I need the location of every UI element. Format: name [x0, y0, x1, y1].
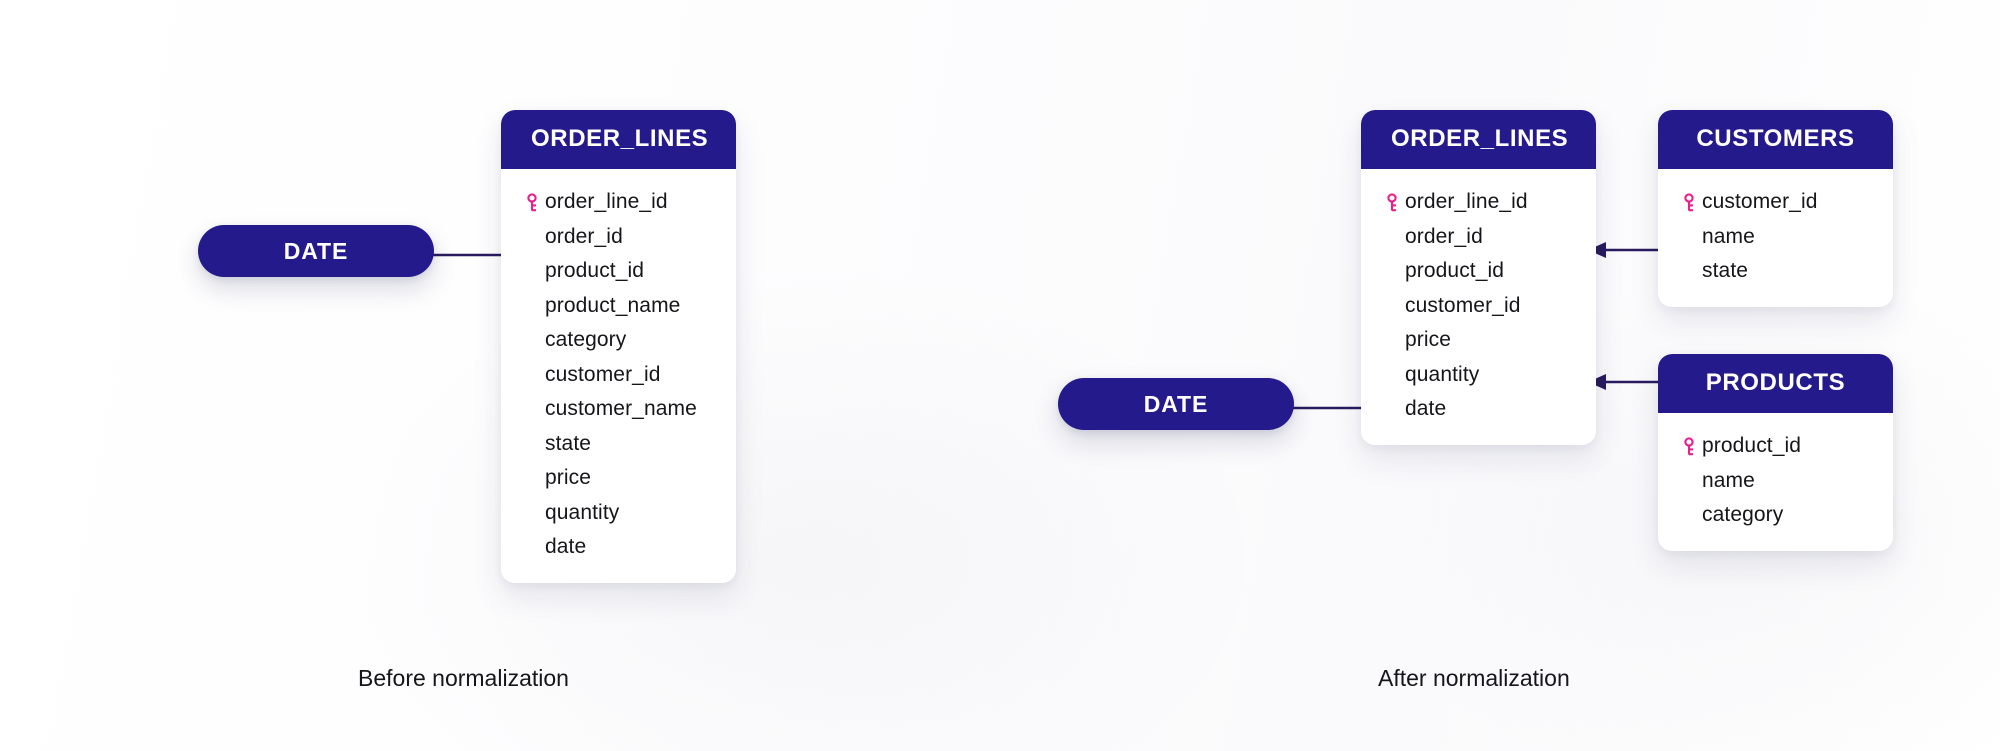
date-pill-after-label: DATE: [1144, 391, 1209, 418]
field-label: date: [1405, 397, 1446, 421]
table-row[interactable]: product_id: [1658, 429, 1893, 464]
date-pill-before[interactable]: DATE: [198, 225, 434, 277]
field-label: state: [545, 432, 591, 456]
field-label: order_id: [1405, 225, 1483, 249]
field-label: customer_id: [1405, 294, 1520, 318]
table-row[interactable]: order_line_id: [501, 185, 736, 220]
field-label: quantity: [545, 501, 619, 525]
table-row[interactable]: name: [1658, 464, 1893, 499]
entity-order-lines-before-fields: order_line_id order_id product_id produc…: [501, 169, 736, 583]
table-row[interactable]: customer_id: [501, 358, 736, 393]
field-label: product_id: [545, 259, 644, 283]
table-row[interactable]: customer_name: [501, 392, 736, 427]
table-row[interactable]: quantity: [1361, 358, 1596, 393]
table-row[interactable]: date: [501, 530, 736, 565]
key-icon: [1676, 193, 1702, 212]
field-label: order_id: [545, 225, 623, 249]
table-row[interactable]: order_id: [501, 220, 736, 255]
entity-order-lines-after-fields: order_line_id order_id product_id custom…: [1361, 169, 1596, 445]
table-row[interactable]: date: [1361, 392, 1596, 427]
entity-order-lines-before-title: ORDER_LINES: [501, 110, 736, 169]
field-label: product_name: [545, 294, 680, 318]
field-label: date: [545, 535, 586, 559]
entity-products-fields: product_id name category: [1658, 413, 1893, 551]
entity-products-title: PRODUCTS: [1658, 354, 1893, 413]
diagram-canvas: DATE ORDER_LINES order_line_id order_id: [0, 0, 2000, 751]
field-label: product_id: [1405, 259, 1504, 283]
table-row[interactable]: customer_id: [1658, 185, 1893, 220]
table-row[interactable]: state: [501, 427, 736, 462]
date-pill-after[interactable]: DATE: [1058, 378, 1294, 430]
entity-order-lines-after[interactable]: ORDER_LINES order_line_id order_id: [1361, 110, 1596, 445]
field-label: product_id: [1702, 434, 1801, 458]
field-label: customer_id: [1702, 190, 1817, 214]
table-row[interactable]: order_line_id: [1361, 185, 1596, 220]
date-pill-before-label: DATE: [284, 238, 349, 265]
table-row[interactable]: order_id: [1361, 220, 1596, 255]
key-icon: [1379, 193, 1405, 212]
field-label: name: [1702, 469, 1755, 493]
table-row[interactable]: product_name: [501, 289, 736, 324]
entity-customers-fields: customer_id name state: [1658, 169, 1893, 307]
entity-order-lines-before[interactable]: ORDER_LINES order_line_id order_id: [501, 110, 736, 583]
field-label: order_line_id: [1405, 190, 1528, 214]
field-label: price: [545, 466, 591, 490]
field-label: name: [1702, 225, 1755, 249]
caption-before: Before normalization: [358, 665, 569, 692]
field-label: quantity: [1405, 363, 1479, 387]
table-row[interactable]: product_id: [501, 254, 736, 289]
table-row[interactable]: state: [1658, 254, 1893, 289]
entity-products[interactable]: PRODUCTS product_id name: [1658, 354, 1893, 551]
table-row[interactable]: price: [1361, 323, 1596, 358]
entity-customers[interactable]: CUSTOMERS customer_id name: [1658, 110, 1893, 307]
entity-customers-title: CUSTOMERS: [1658, 110, 1893, 169]
field-label: category: [545, 328, 626, 352]
table-row[interactable]: name: [1658, 220, 1893, 255]
field-label: customer_id: [545, 363, 660, 387]
field-label: customer_name: [545, 397, 697, 421]
field-label: order_line_id: [545, 190, 668, 214]
table-row[interactable]: price: [501, 461, 736, 496]
key-icon: [1676, 437, 1702, 456]
table-row[interactable]: customer_id: [1361, 289, 1596, 324]
field-label: price: [1405, 328, 1451, 352]
table-row[interactable]: category: [1658, 498, 1893, 533]
key-icon: [519, 193, 545, 212]
caption-after: After normalization: [1378, 665, 1570, 692]
table-row[interactable]: product_id: [1361, 254, 1596, 289]
table-row[interactable]: category: [501, 323, 736, 358]
field-label: state: [1702, 259, 1748, 283]
field-label: category: [1702, 503, 1783, 527]
table-row[interactable]: quantity: [501, 496, 736, 531]
entity-order-lines-after-title: ORDER_LINES: [1361, 110, 1596, 169]
